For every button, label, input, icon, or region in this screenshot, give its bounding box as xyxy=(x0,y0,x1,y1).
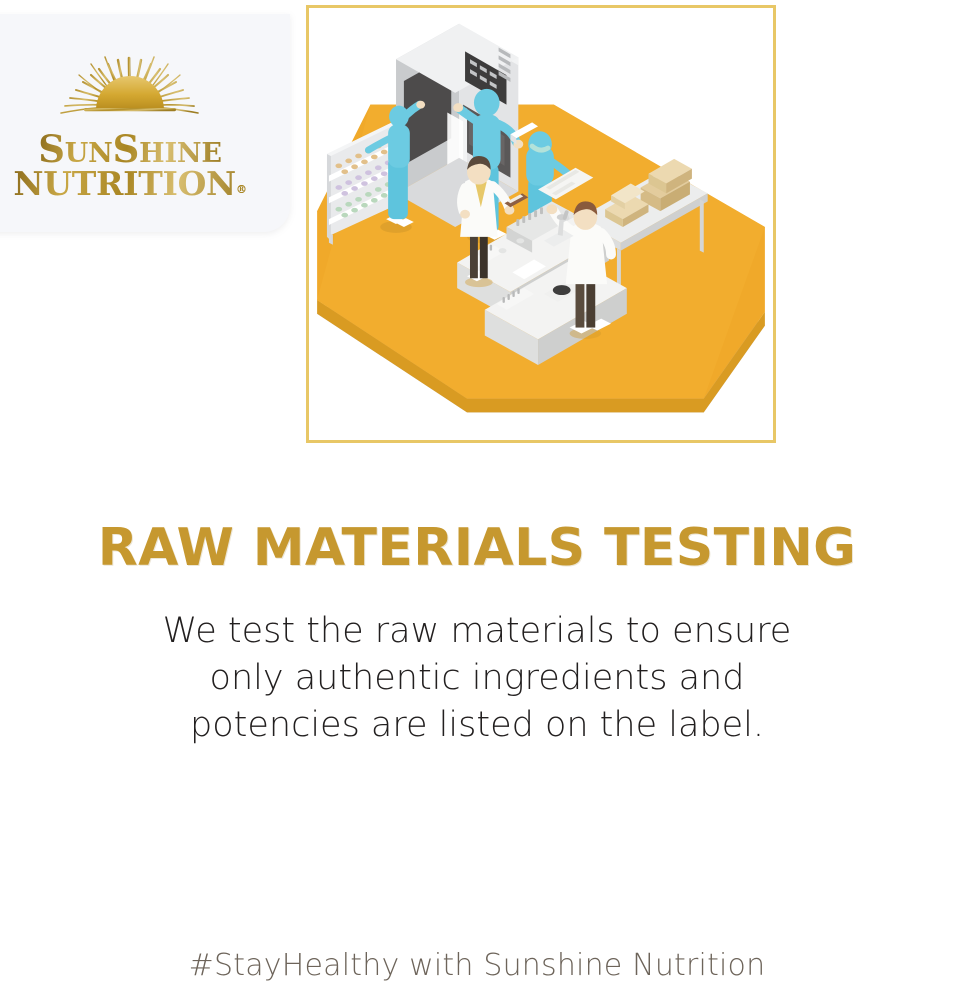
body-copy: We test the raw materials to ensure only… xyxy=(0,608,954,749)
brand-name-line-2: NUTRITION® xyxy=(13,167,246,200)
footer-hashtag-tagline: #StayHealthy with Sunshine Nutrition xyxy=(0,948,954,983)
laboratory-illustration xyxy=(309,8,773,440)
page-title: RAW MATERIALS TESTING xyxy=(0,518,954,578)
brand-logo-card: SUNSHINE NUTRITION® xyxy=(0,14,290,232)
body-line-2: only authentic ingredients and xyxy=(0,655,954,702)
body-line-3: potencies are listed on the label. xyxy=(0,702,954,749)
trademark-mark: ® xyxy=(236,183,247,196)
sunburst-icon xyxy=(30,46,230,130)
body-line-1: We test the raw materials to ensure xyxy=(0,608,954,655)
brand-name-line-1: SUNSHINE xyxy=(38,132,222,167)
brand-logo: SUNSHINE NUTRITION® xyxy=(0,14,260,232)
illustration-frame xyxy=(306,5,776,443)
